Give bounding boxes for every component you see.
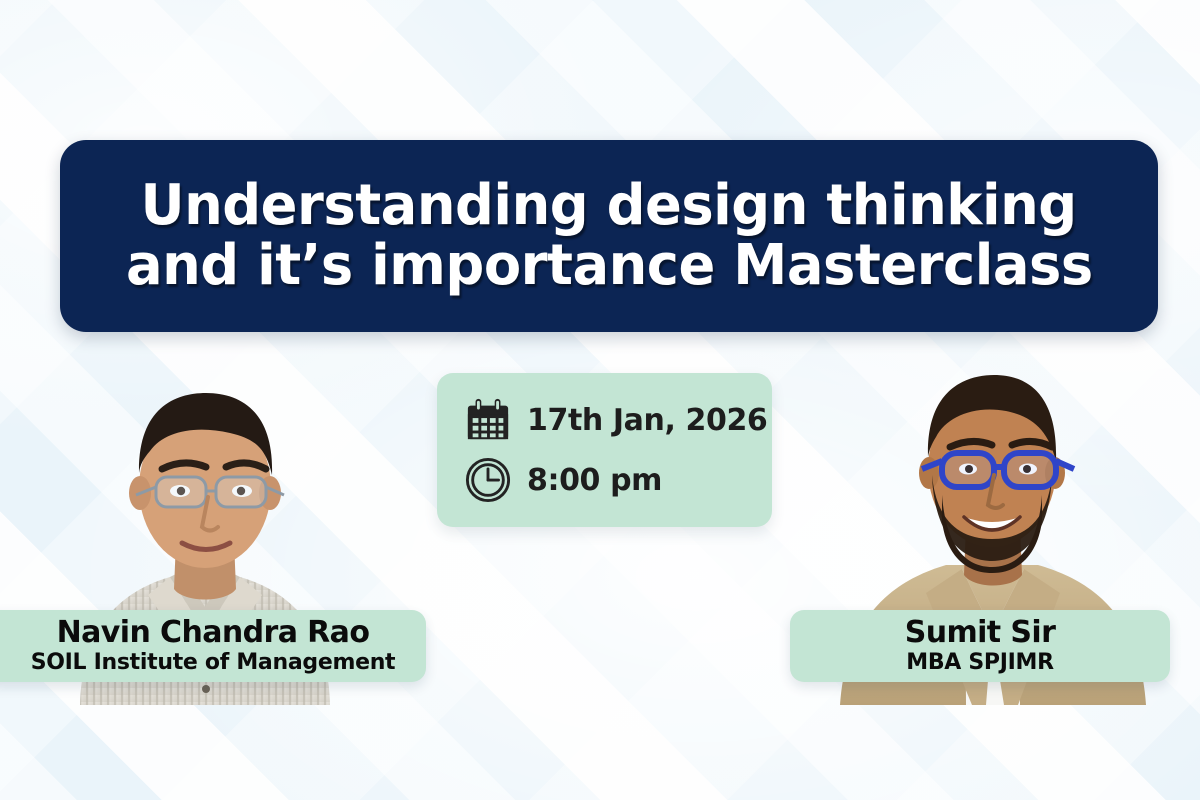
speaker-right-name: Sumit Sir (905, 617, 1056, 649)
title-bar: Understanding design thinking and it’s i… (60, 140, 1158, 332)
event-date-text: 17th Jan, 2026 (527, 403, 767, 438)
clock-icon (465, 457, 511, 503)
speaker-left-organization: SOIL Institute of Management (31, 650, 396, 675)
event-info-card: 17th Jan, 2026 8:00 pm (437, 373, 772, 527)
masterclass-promo-banner: Understanding design thinking and it’s i… (0, 0, 1200, 800)
title-line-2: and it’s importance Masterclass (126, 236, 1093, 296)
speaker-left-name: Navin Chandra Rao (57, 617, 370, 649)
speaker-right-organization: MBA SPJIMR (906, 650, 1054, 675)
event-time-text: 8:00 pm (527, 463, 662, 498)
title-line-1: Understanding design thinking (141, 176, 1077, 236)
calendar-icon (465, 397, 511, 443)
speaker-nameplate-right: Sumit Sir MBA SPJIMR (790, 610, 1170, 682)
event-date-row: 17th Jan, 2026 (465, 397, 772, 443)
speaker-nameplate-left: Navin Chandra Rao SOIL Institute of Mana… (0, 610, 426, 682)
event-time-row: 8:00 pm (465, 457, 772, 503)
